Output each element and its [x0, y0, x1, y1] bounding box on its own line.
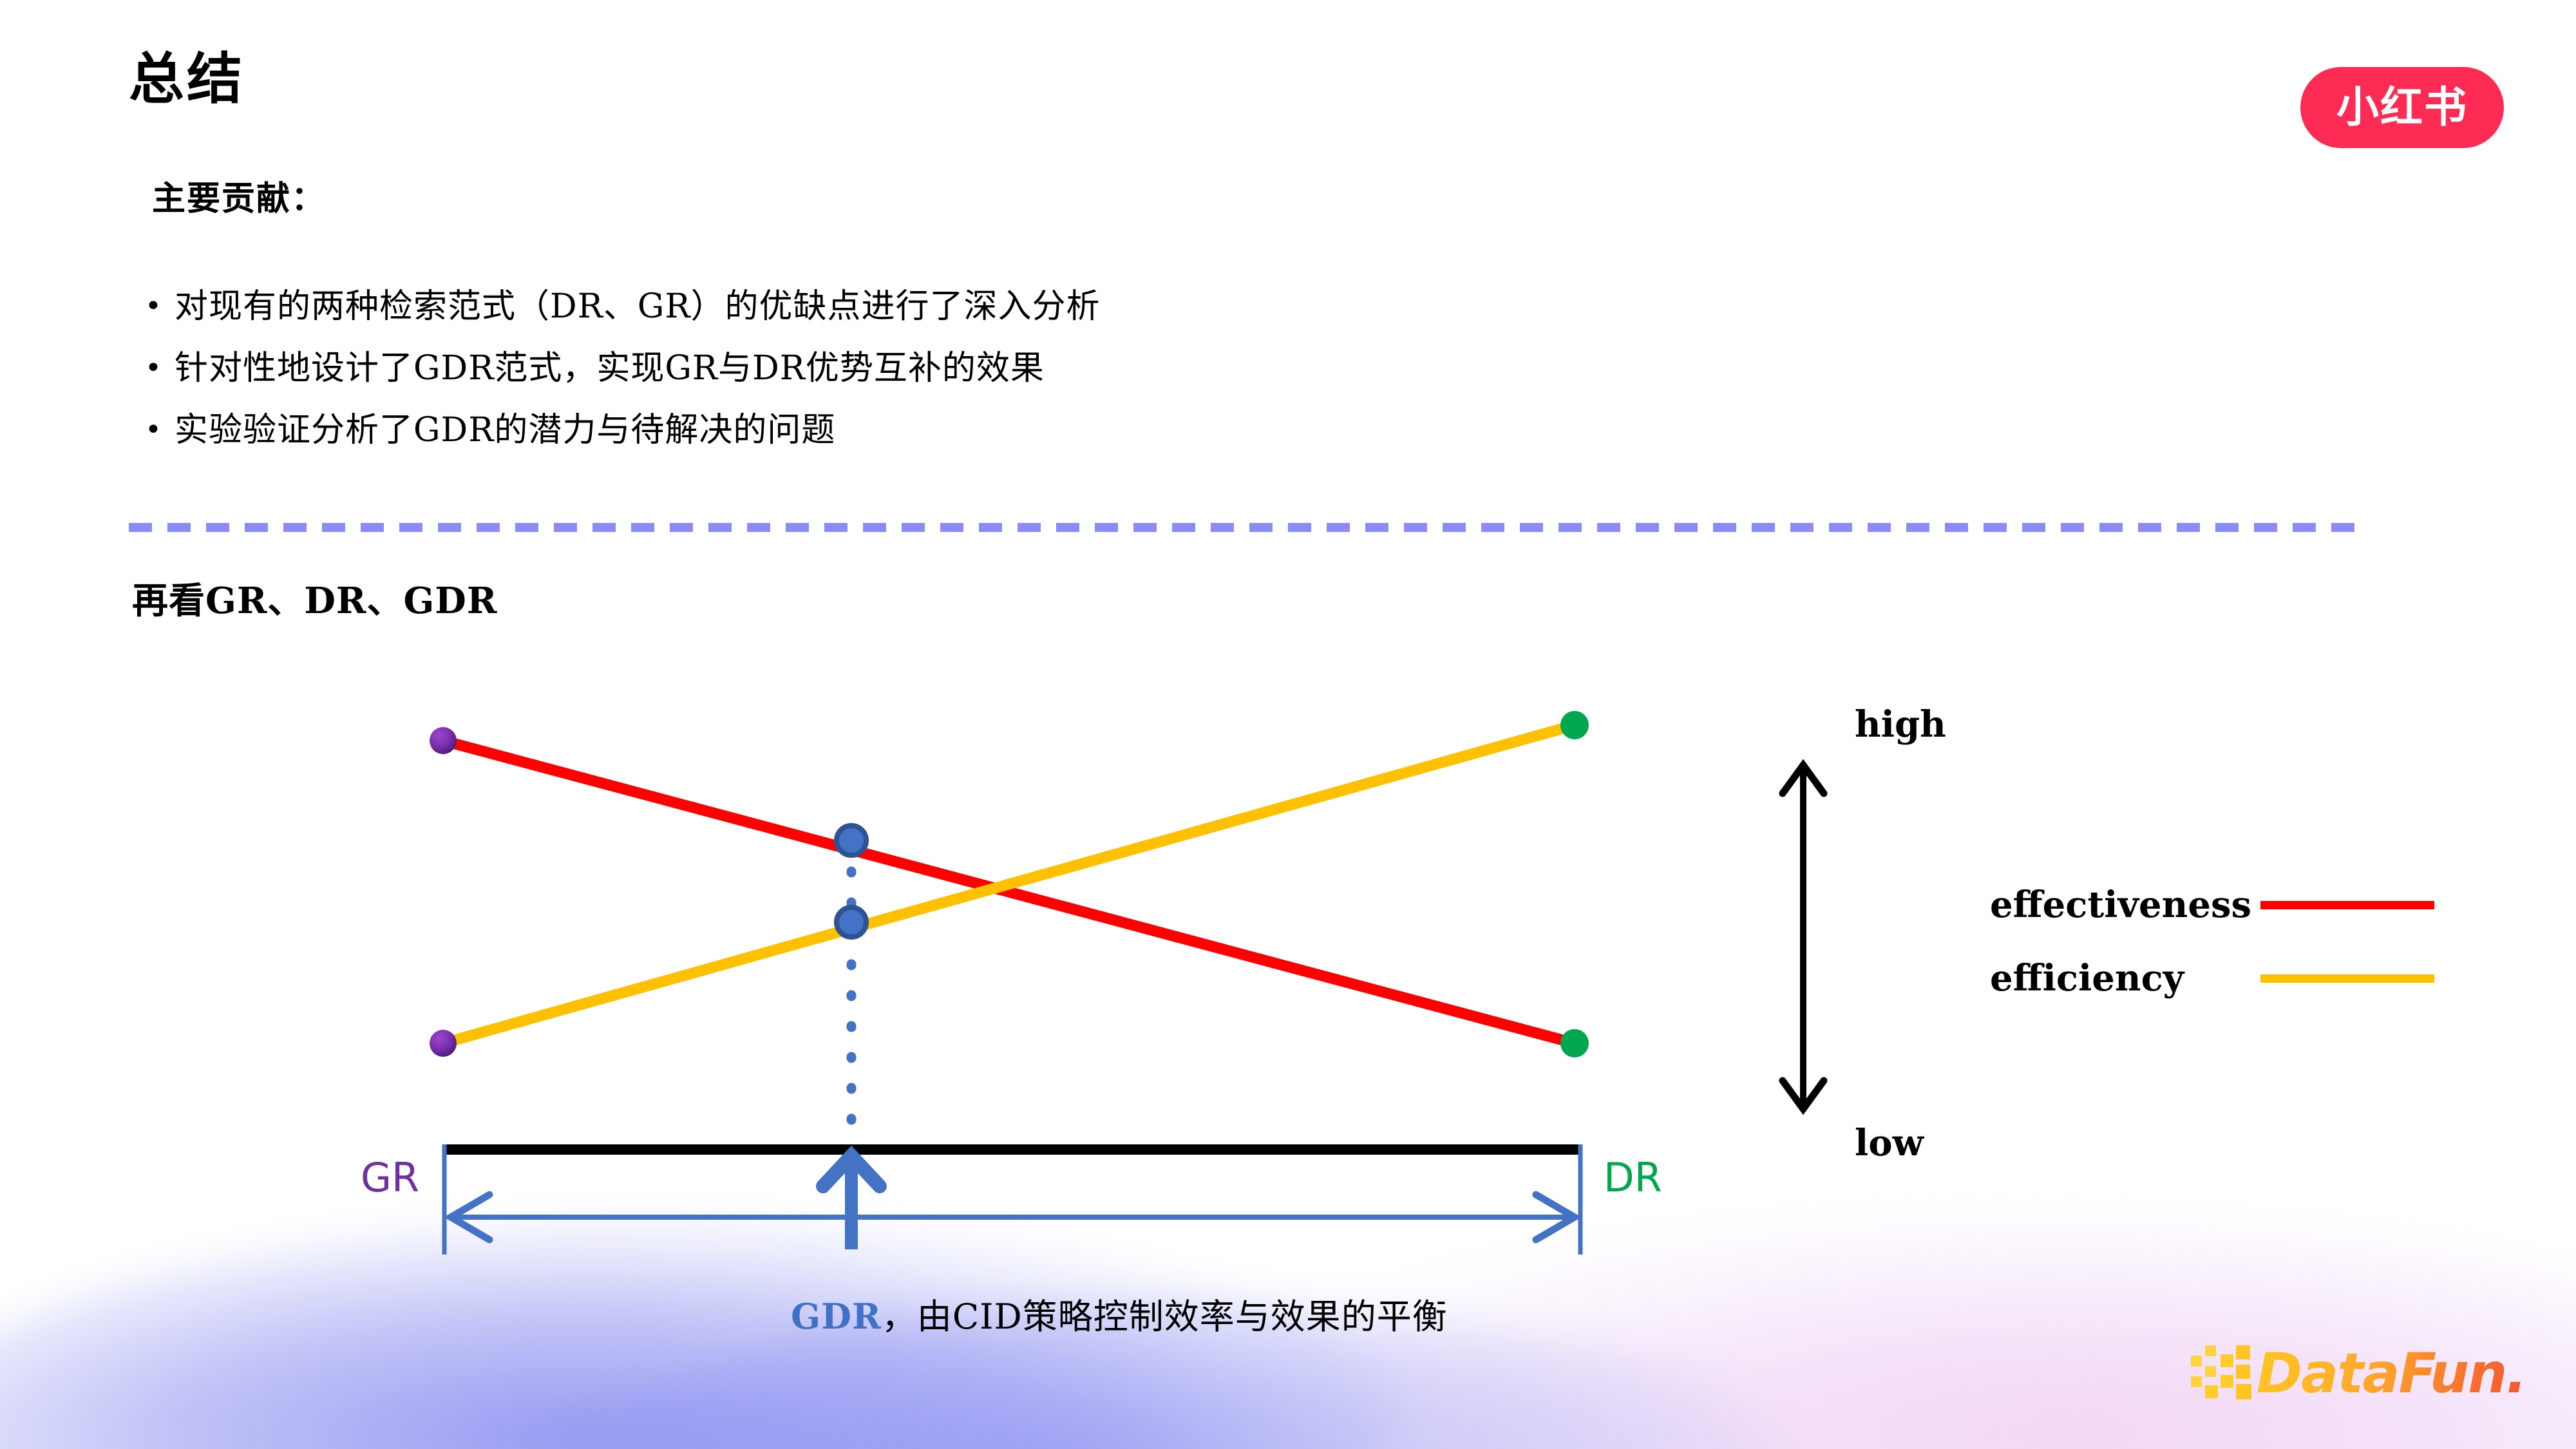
legend-swatch-effectiveness	[2260, 901, 2434, 909]
chart-legend: effectiveness efficiency	[1990, 868, 2434, 1015]
legend-label-efficiency: efficiency	[1990, 957, 2260, 999]
list-item-text: 实验验证分析了GDR的潜力与待解决的问题	[175, 407, 835, 453]
scale-label-high: high	[1855, 703, 1946, 746]
comparison-diagram	[0, 0, 2576, 1449]
slide-root: 总结 小红书 主要贡献： • 对现有的两种检索范式（DR、GR）的优缺点进行了深…	[0, 0, 2576, 1449]
caption-rest: ，由CID策略控制效率与效果的平衡	[882, 1296, 1448, 1337]
bullet-icon: •	[145, 345, 175, 392]
page-title: 总结	[129, 33, 245, 114]
datafun-logo-text: DataFun.	[2257, 1346, 2526, 1401]
efficiency-line	[443, 725, 1575, 1043]
list-item: • 针对性地设计了GDR范式，实现GR与DR优势互补的效果	[145, 345, 1101, 392]
effectiveness-line	[443, 741, 1575, 1043]
legend-label-effectiveness: effectiveness	[1990, 884, 2260, 926]
legend-entry-efficiency: efficiency	[1990, 942, 2434, 1015]
gr-effectiveness-point	[430, 727, 457, 754]
bullet-icon: •	[145, 407, 175, 453]
sub-heading: 再看GR、DR、GDR	[132, 572, 497, 624]
dashed-divider	[129, 523, 2363, 532]
list-item-text: 对现有的两种检索范式（DR、GR）的优缺点进行了深入分析	[175, 283, 1101, 330]
bullet-icon: •	[145, 283, 175, 330]
gdr-pointer-head	[823, 1156, 880, 1186]
span-arrow-head-right	[1536, 1195, 1575, 1240]
list-item-text: 针对性地设计了GDR范式，实现GR与DR优势互补的效果	[175, 345, 1045, 392]
diagram-caption: GDR，由CID策略控制效率与效果的平衡	[791, 1288, 1448, 1339]
gr-efficiency-point	[430, 1030, 457, 1057]
span-arrow-head-left	[451, 1195, 489, 1240]
x-axis-bar	[443, 1144, 1580, 1155]
axis-label-dr: DR	[1604, 1158, 1662, 1198]
scale-label-low: low	[1855, 1122, 1924, 1164]
xiaohongshu-logo-text: 小红书	[2336, 86, 2468, 129]
gdr-effectiveness-point	[837, 826, 866, 855]
axis-label-gr: GR	[361, 1158, 419, 1198]
xiaohongshu-logo: 小红书	[2300, 67, 2504, 148]
dr-effectiveness-point	[1560, 1029, 1589, 1057]
list-item: • 实验验证分析了GDR的潜力与待解决的问题	[145, 407, 1101, 453]
legend-entry-effectiveness: effectiveness	[1990, 868, 2434, 942]
scale-arrow-head-up	[1783, 765, 1824, 793]
scale-arrow-head-down	[1783, 1081, 1824, 1109]
contributions-list: • 对现有的两种检索范式（DR、GR）的优缺点进行了深入分析 • 针对性地设计了…	[145, 283, 1101, 469]
contributions-label: 主要贡献：	[152, 171, 326, 220]
dr-efficiency-point	[1560, 711, 1589, 739]
datafun-logo: DataFun.	[2191, 1338, 2526, 1409]
datafun-pixel-icon	[2191, 1345, 2253, 1402]
gdr-efficiency-point	[837, 907, 866, 937]
list-item: • 对现有的两种检索范式（DR、GR）的优缺点进行了深入分析	[145, 283, 1101, 330]
legend-swatch-efficiency	[2260, 974, 2434, 983]
caption-gdr-token: GDR	[791, 1296, 882, 1337]
